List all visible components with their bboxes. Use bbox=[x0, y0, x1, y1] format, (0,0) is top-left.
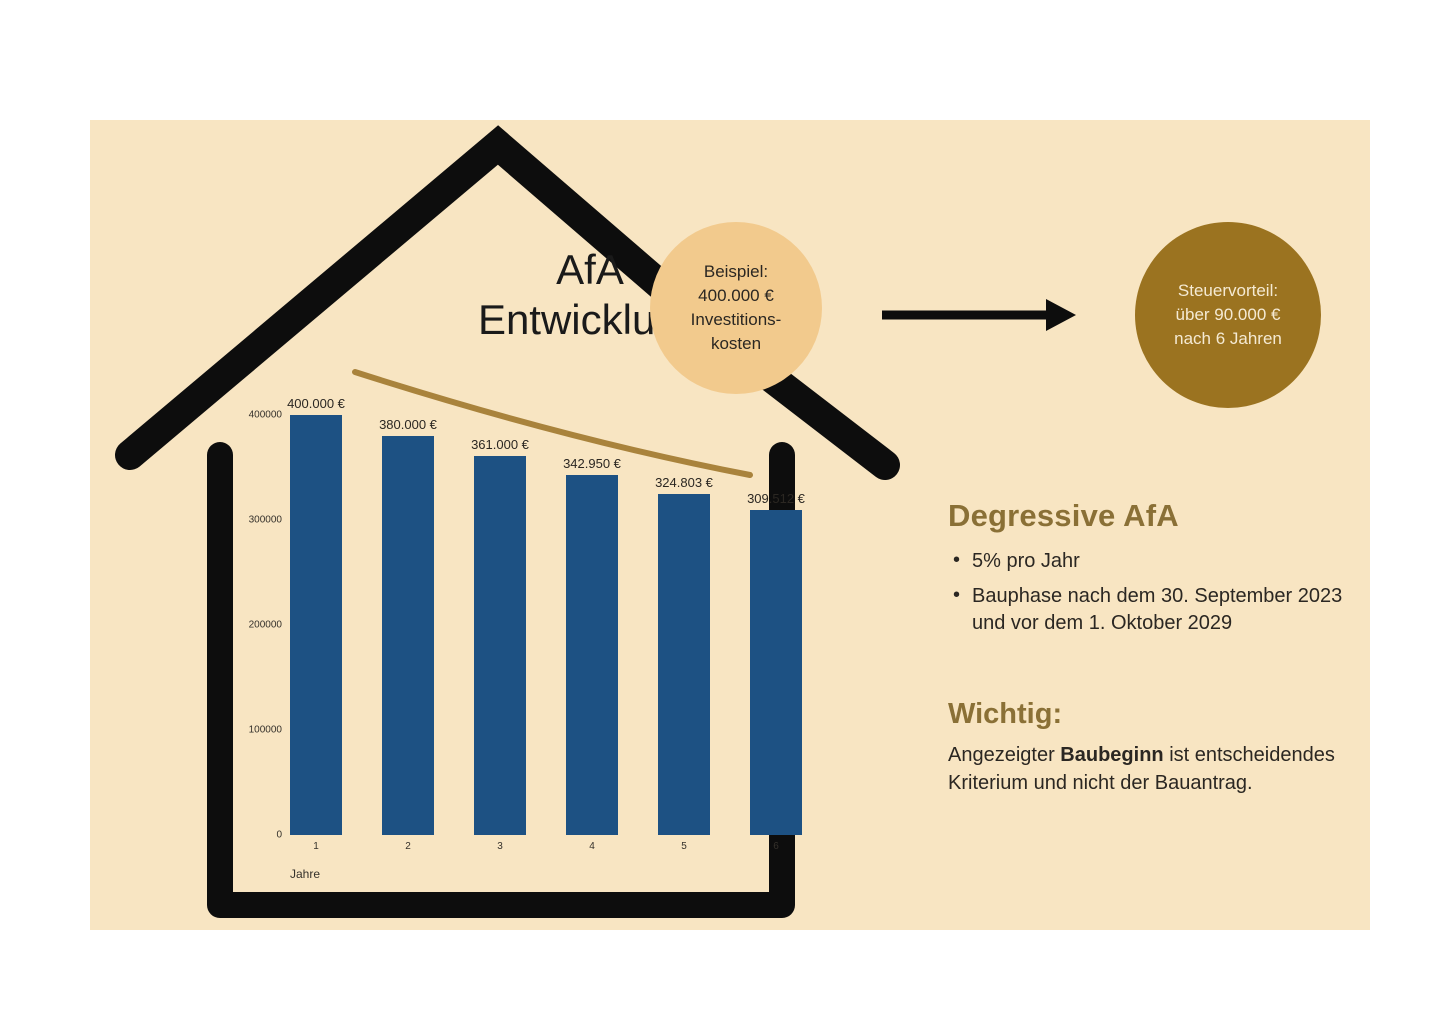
beispiel-line-3: Investitions- bbox=[691, 308, 782, 332]
bar bbox=[566, 475, 618, 835]
bar bbox=[290, 415, 342, 835]
wichtig-block: Wichtig: Angezeigter Baubeginn ist entsc… bbox=[948, 698, 1348, 798]
x-axis-title: Jahre bbox=[290, 867, 320, 881]
beispiel-circle: Beispiel: 400.000 € Investitions- kosten bbox=[650, 222, 822, 394]
steuervorteil-line-1: Steuervorteil: bbox=[1174, 279, 1282, 303]
bar bbox=[382, 436, 434, 835]
plot-area: 0 100000 200000 300000 400000 400.000 € … bbox=[290, 415, 810, 835]
y-tick: 300000 bbox=[249, 515, 282, 526]
degressive-afa-bullets: 5% pro Jahr Bauphase nach dem 30. Septem… bbox=[948, 548, 1348, 638]
x-tick: 6 bbox=[750, 841, 802, 852]
beispiel-line-2: 400.000 € bbox=[691, 284, 782, 308]
steuervorteil-line-3: nach 6 Jahren bbox=[1174, 327, 1282, 351]
bar bbox=[658, 494, 710, 835]
x-tick: 5 bbox=[658, 841, 710, 852]
wichtig-text-part-1: Angezeigter bbox=[948, 744, 1060, 766]
bar-value-label: 361.000 € bbox=[471, 437, 529, 452]
degressive-afa-heading: Degressive AfA bbox=[948, 498, 1348, 534]
bar bbox=[474, 456, 526, 835]
bar-value-label: 380.000 € bbox=[379, 417, 437, 432]
info-column: Degressive AfA 5% pro Jahr Bauphase nach… bbox=[948, 498, 1348, 797]
steuervorteil-circle: Steuervorteil: über 90.000 € nach 6 Jahr… bbox=[1135, 222, 1321, 408]
x-tick: 3 bbox=[474, 841, 526, 852]
wichtig-text-bold: Baubeginn bbox=[1060, 744, 1163, 766]
y-tick: 400000 bbox=[249, 410, 282, 421]
bar-value-label: 324.803 € bbox=[655, 475, 713, 490]
afa-bar-chart: 0 100000 200000 300000 400000 400.000 € … bbox=[230, 395, 870, 965]
steuervorteil-line-2: über 90.000 € bbox=[1174, 303, 1282, 327]
bar-value-label: 400.000 € bbox=[287, 396, 345, 411]
bar-value-label: 342.950 € bbox=[563, 456, 621, 471]
y-tick: 0 bbox=[276, 830, 282, 841]
infographic-panel: 0 100000 200000 300000 400000 400.000 € … bbox=[90, 120, 1370, 930]
steuervorteil-circle-text: Steuervorteil: über 90.000 € nach 6 Jahr… bbox=[1160, 279, 1296, 351]
beispiel-circle-text: Beispiel: 400.000 € Investitions- kosten bbox=[677, 260, 796, 357]
x-tick: 4 bbox=[566, 841, 618, 852]
y-tick: 100000 bbox=[249, 725, 282, 736]
infographic-canvas: 0 100000 200000 300000 400000 400.000 € … bbox=[0, 0, 1440, 1019]
beispiel-line-4: kosten bbox=[691, 332, 782, 356]
x-tick: 1 bbox=[290, 841, 342, 852]
wichtig-heading: Wichtig: bbox=[948, 698, 1348, 731]
x-tick: 2 bbox=[382, 841, 434, 852]
bar-value-label: 309.512 € bbox=[747, 491, 805, 506]
list-item: Bauphase nach dem 30. September 2023 und… bbox=[972, 583, 1348, 637]
bar bbox=[750, 510, 802, 835]
list-item: 5% pro Jahr bbox=[972, 548, 1348, 575]
wichtig-body: Angezeigter Baubeginn ist entscheidendes… bbox=[948, 741, 1348, 798]
beispiel-line-1: Beispiel: bbox=[691, 260, 782, 284]
y-tick: 200000 bbox=[249, 620, 282, 631]
arrow-right-icon bbox=[880, 295, 1080, 335]
